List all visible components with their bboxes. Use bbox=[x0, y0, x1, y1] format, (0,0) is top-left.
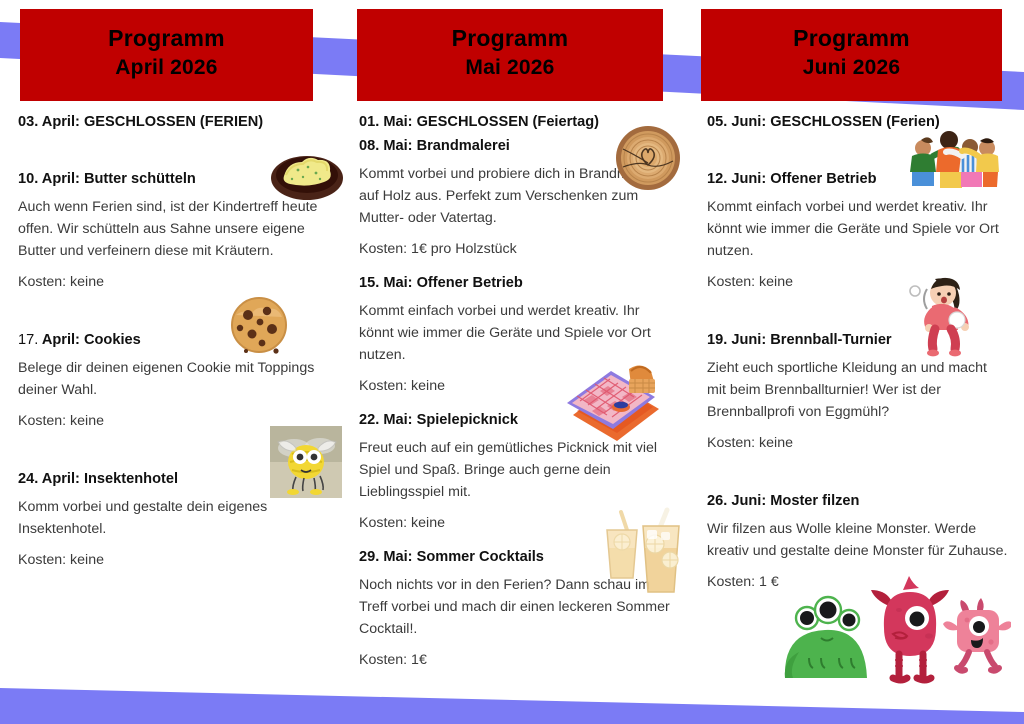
entry-juni-12: 12. Juni: Offener Betrieb Kommt einfach … bbox=[707, 170, 1008, 293]
program-poster: Programm April 2026 03. April: GESCHLOSS… bbox=[0, 0, 1024, 724]
entry-cost: Kosten: keine bbox=[18, 410, 325, 432]
entry-cost: Kosten: 1€ bbox=[359, 649, 671, 671]
header-april-subtitle: April 2026 bbox=[20, 53, 313, 83]
header-mai-title: Programm bbox=[357, 23, 663, 53]
header-april-title: Programm bbox=[20, 23, 313, 53]
entry-april-17: 17. April: Cookies Belege dir deinen eig… bbox=[18, 331, 325, 432]
entry-title: 22. Mai: Spielepicknick bbox=[359, 411, 671, 430]
entry-title: 29. Mai: Sommer Cocktails bbox=[359, 548, 671, 567]
green-monster bbox=[785, 597, 867, 678]
april-entries: 03. April: GESCHLOSSEN (FERIEN) bbox=[14, 101, 327, 571]
entry-description: Belege dir deinen eigenen Cookie mit Top… bbox=[18, 357, 325, 401]
header-juni: Programm Juni 2026 bbox=[701, 9, 1002, 101]
entry-title: 01. Mai: GESCHLOSSEN (Feiertag) bbox=[359, 113, 671, 132]
entry-title: 19. Juni: Brennball-Turnier bbox=[707, 331, 1008, 350]
header-mai: Programm Mai 2026 bbox=[357, 9, 663, 101]
entry-description: Kommt einfach vorbei und werdet kreativ.… bbox=[707, 196, 1008, 262]
entry-mai-22: 22. Mai: Spielepicknick Freut euch auf e… bbox=[359, 411, 671, 534]
program-columns: Programm April 2026 03. April: GESCHLOSS… bbox=[0, 0, 1024, 724]
entry-description: Freut euch auf ein gemütliches Picknick … bbox=[359, 437, 671, 503]
entry-description: Auch wenn Ferien sind, ist der Kindertre… bbox=[18, 196, 325, 262]
entry-title: 15. Mai: Offener Betrieb bbox=[359, 274, 671, 293]
entry-title: 08. Mai: Brandmalerei bbox=[359, 137, 671, 156]
entry-juni-05: 05. Juni: GESCHLOSSEN (Ferien) bbox=[707, 113, 1008, 132]
entry-april-24: 24. April: Insektenhotel Komm vorbei und… bbox=[18, 470, 325, 571]
entry-mai-29: 29. Mai: Sommer Cocktails Noch nichts vo… bbox=[359, 548, 671, 671]
header-juni-subtitle: Juni 2026 bbox=[701, 53, 1002, 83]
entry-mai-01: 01. Mai: GESCHLOSSEN (Feiertag) bbox=[359, 113, 671, 132]
header-mai-subtitle: Mai 2026 bbox=[357, 53, 663, 83]
entry-mai-15: 15. Mai: Offener Betrieb Kommt einfach v… bbox=[359, 274, 671, 397]
entry-cost: Kosten: keine bbox=[18, 549, 325, 571]
entry-title: 26. Juni: Moster filzen bbox=[707, 492, 1008, 511]
header-april: Programm April 2026 bbox=[20, 9, 313, 101]
entry-title-text: April: Cookies bbox=[42, 332, 141, 348]
entry-juni-26: 26. Juni: Moster filzen Wir filzen aus W… bbox=[707, 492, 1008, 593]
entry-april-10: 10. April: Butter schütteln Auch wenn Fe… bbox=[18, 170, 325, 293]
entry-description: Zieht euch sportliche Kleidung an und ma… bbox=[707, 357, 1008, 423]
program-column-mai: Programm Mai 2026 01. Mai: GESCHLOSSEN (… bbox=[341, 0, 683, 724]
entry-title-number: 17. bbox=[18, 332, 38, 348]
entry-juni-19: 19. Juni: Brennball-Turnier Zieht euch s… bbox=[707, 331, 1008, 454]
entry-description: Kommt einfach vorbei und werdet kreativ.… bbox=[359, 300, 671, 366]
header-juni-title: Programm bbox=[701, 23, 1002, 53]
program-column-juni: Programm Juni 2026 05. Juni: GESCHLOSSEN… bbox=[683, 0, 1024, 724]
entry-title: 05. Juni: GESCHLOSSEN (Ferien) bbox=[707, 113, 1008, 132]
entry-title: 24. April: Insektenhotel bbox=[18, 470, 325, 489]
entry-description: Komm vorbei und gestalte dein eigenes In… bbox=[18, 496, 325, 540]
entry-cost: Kosten: keine bbox=[359, 375, 671, 397]
entry-title: 17. April: Cookies bbox=[18, 331, 325, 350]
entry-cost: Kosten: keine bbox=[707, 271, 1008, 293]
pink-monster bbox=[943, 598, 1011, 671]
entry-mai-08: 08. Mai: Brandmalerei Kommt vorbei und p… bbox=[359, 137, 671, 260]
entry-description: Noch nichts vor in den Ferien? Dann scha… bbox=[359, 574, 671, 640]
entry-title: 10. April: Butter schütteln bbox=[18, 170, 325, 189]
entry-description: Kommt vorbei und probiere dich in Brandm… bbox=[359, 163, 671, 229]
entry-cost: Kosten: 1 € bbox=[707, 571, 1008, 593]
entry-title: 12. Juni: Offener Betrieb bbox=[707, 170, 1008, 189]
entry-title: 03. April: GESCHLOSSEN (FERIEN) bbox=[18, 113, 325, 132]
entry-cost: Kosten: keine bbox=[707, 432, 1008, 454]
mai-entries: 01. Mai: GESCHLOSSEN (Feiertag) bbox=[353, 101, 673, 671]
entry-description: Wir filzen aus Wolle kleine Monster. Wer… bbox=[707, 518, 1008, 562]
entry-cost: Kosten: 1€ pro Holzstück bbox=[359, 238, 671, 260]
entry-cost: Kosten: keine bbox=[18, 271, 325, 293]
entry-april-03: 03. April: GESCHLOSSEN (FERIEN) bbox=[18, 113, 325, 132]
program-column-april: Programm April 2026 03. April: GESCHLOSS… bbox=[0, 0, 341, 724]
juni-entries: 05. Juni: GESCHLOSSEN (Ferien) bbox=[697, 101, 1010, 593]
entry-cost: Kosten: keine bbox=[359, 512, 671, 534]
